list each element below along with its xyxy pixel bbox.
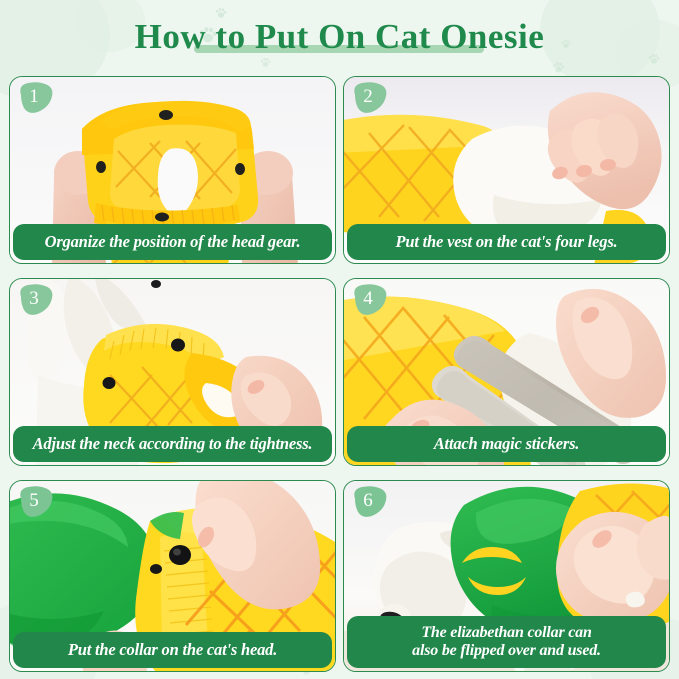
step-panel-3[interactable]: 3 Adjust the neck according to the tight… [9,278,336,466]
step-badge-1: 1 [15,81,53,114]
step-number-2: 2 [349,81,387,114]
step-number-4: 4 [349,283,387,316]
step-caption-1: Organize the position of the head gear. [13,224,332,260]
step-caption-4: Attach magic stickers. [347,426,666,462]
step-badge-4: 4 [349,283,387,316]
step-badge-5: 5 [15,485,53,518]
step-caption-6: The elizabethan collar can also be flipp… [347,616,666,668]
step-panel-2[interactable]: 2 Put the vest on the cat's four legs. [343,76,670,264]
step-caption-3: Adjust the neck according to the tightne… [13,426,332,462]
step-caption-6-line-2: also be flipped over and used. [412,642,601,660]
step-panel-1[interactable]: 1 Organize the position of the head gear… [9,76,336,264]
step-number-3: 3 [15,283,53,316]
step-badge-3: 3 [15,283,53,316]
step-caption-5: Put the collar on the cat's head. [13,632,332,668]
steps-grid: 1 Organize the position of the head gear… [9,76,670,668]
step-number-1: 1 [15,81,53,114]
infographic-page: How to Put On Cat Onesie [0,0,679,679]
step-badge-2: 2 [349,81,387,114]
step-number-6: 6 [349,485,387,518]
step-number-5: 5 [15,485,53,518]
step-caption-6-line-1: The elizabethan collar can [412,624,601,642]
step-panel-5[interactable]: 5 Put the collar on the cat's head. [9,480,336,672]
page-title: How to Put On Cat Onesie [135,15,545,59]
step-panel-4[interactable]: 4 Attach magic stickers. [343,278,670,466]
page-title-wrap: How to Put On Cat Onesie [0,0,679,74]
step-panel-6[interactable]: 6 The elizabethan collar can also be fli… [343,480,670,672]
step-caption-2: Put the vest on the cat's four legs. [347,224,666,260]
step-badge-6: 6 [349,485,387,518]
